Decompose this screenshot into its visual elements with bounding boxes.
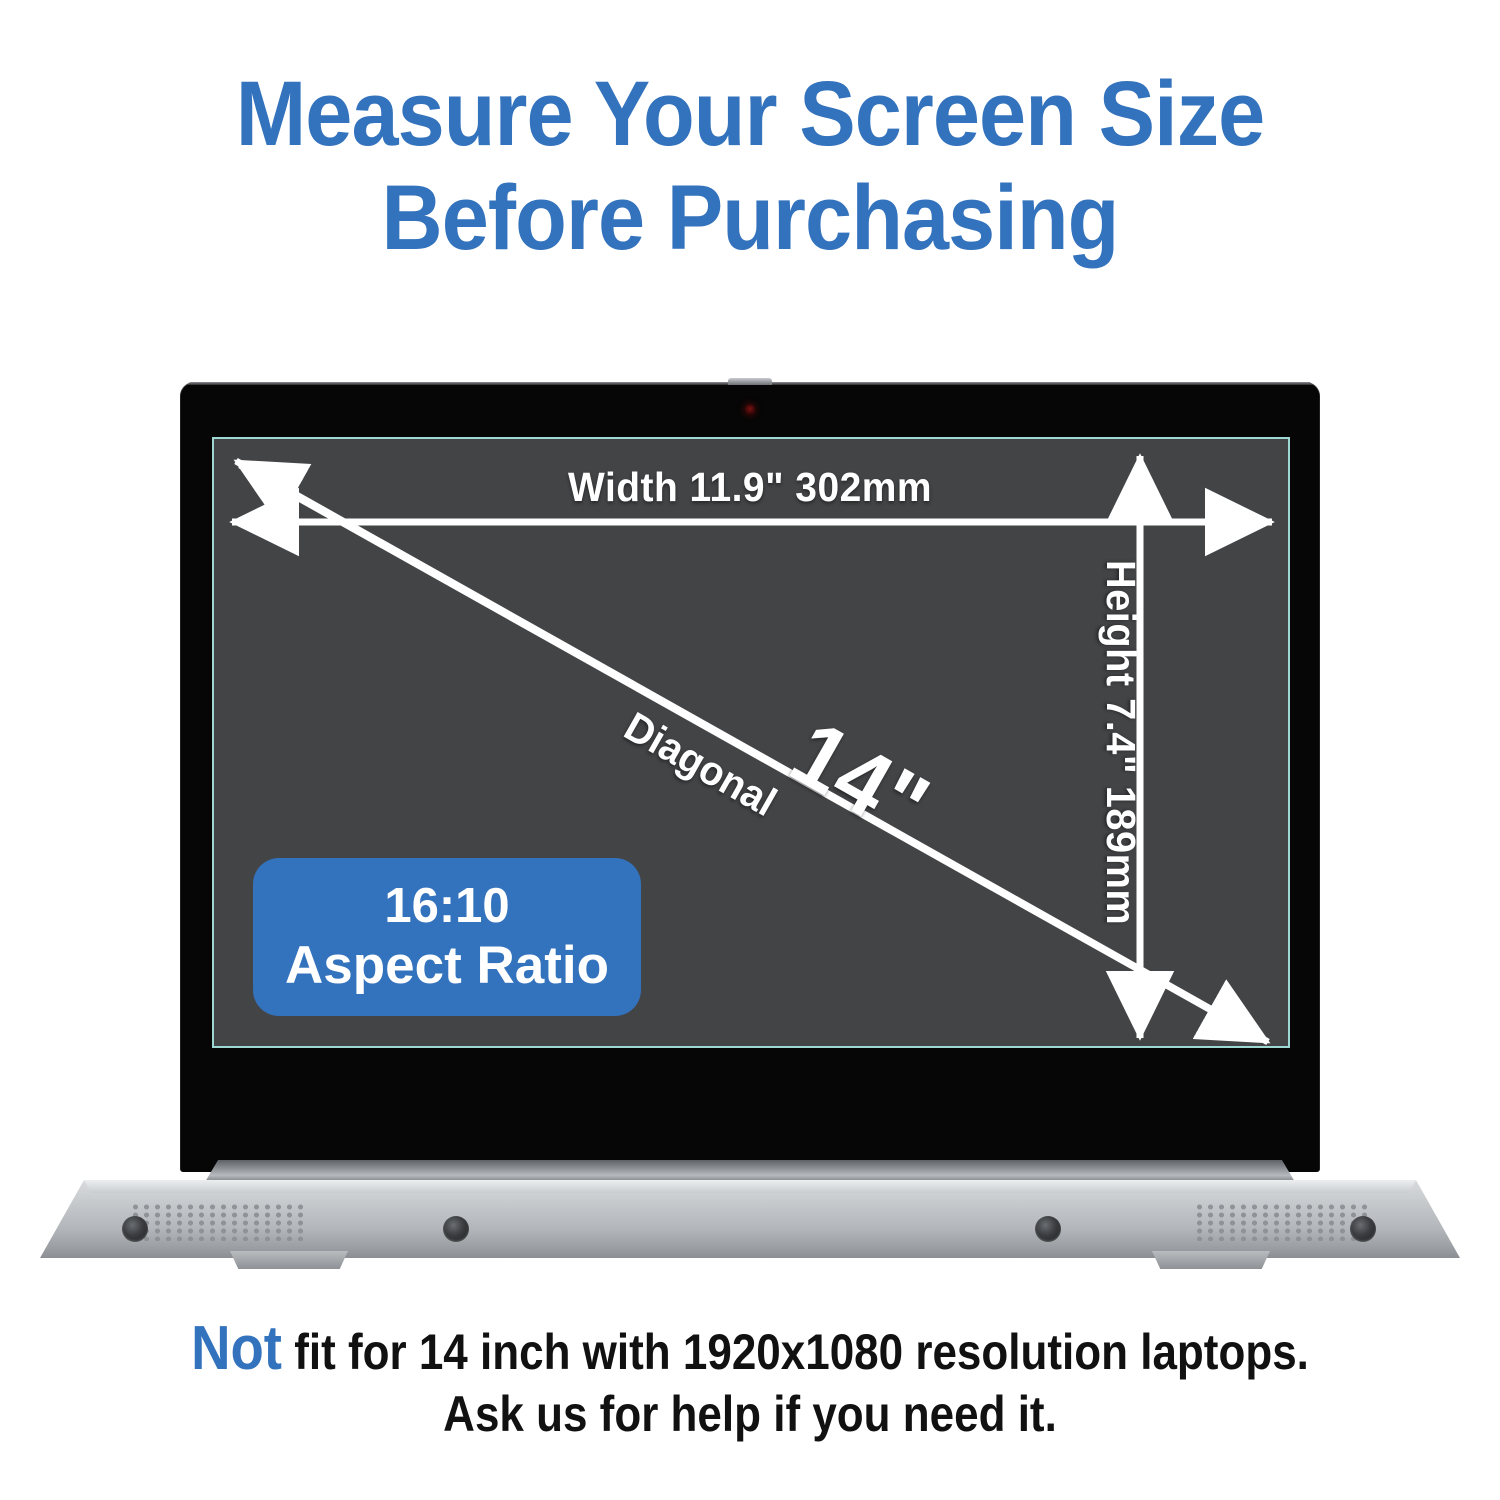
aspect-ratio-value: 16:10 — [384, 882, 509, 931]
footer-line-1-rest: fit for 14 inch with 1920x1080 resolutio… — [282, 1324, 1309, 1380]
poster-canvas: Measure Your Screen Size Before Purchasi… — [0, 0, 1500, 1500]
aspect-ratio-caption: Aspect Ratio — [285, 939, 609, 992]
footer-emphasis: Not — [191, 1314, 282, 1383]
footer-line-2: Ask us for help if you need it. — [90, 1383, 1410, 1445]
measurement-overlay — [0, 0, 1500, 1500]
height-measurement-label: Height 7.4" 189mm — [1097, 560, 1144, 925]
footer-note: Not fit for 14 inch with 1920x1080 resol… — [90, 1318, 1410, 1445]
width-measurement-label: Width 11.9" 302mm — [38, 464, 1463, 511]
aspect-ratio-badge: 16:10 Aspect Ratio — [253, 858, 641, 1016]
